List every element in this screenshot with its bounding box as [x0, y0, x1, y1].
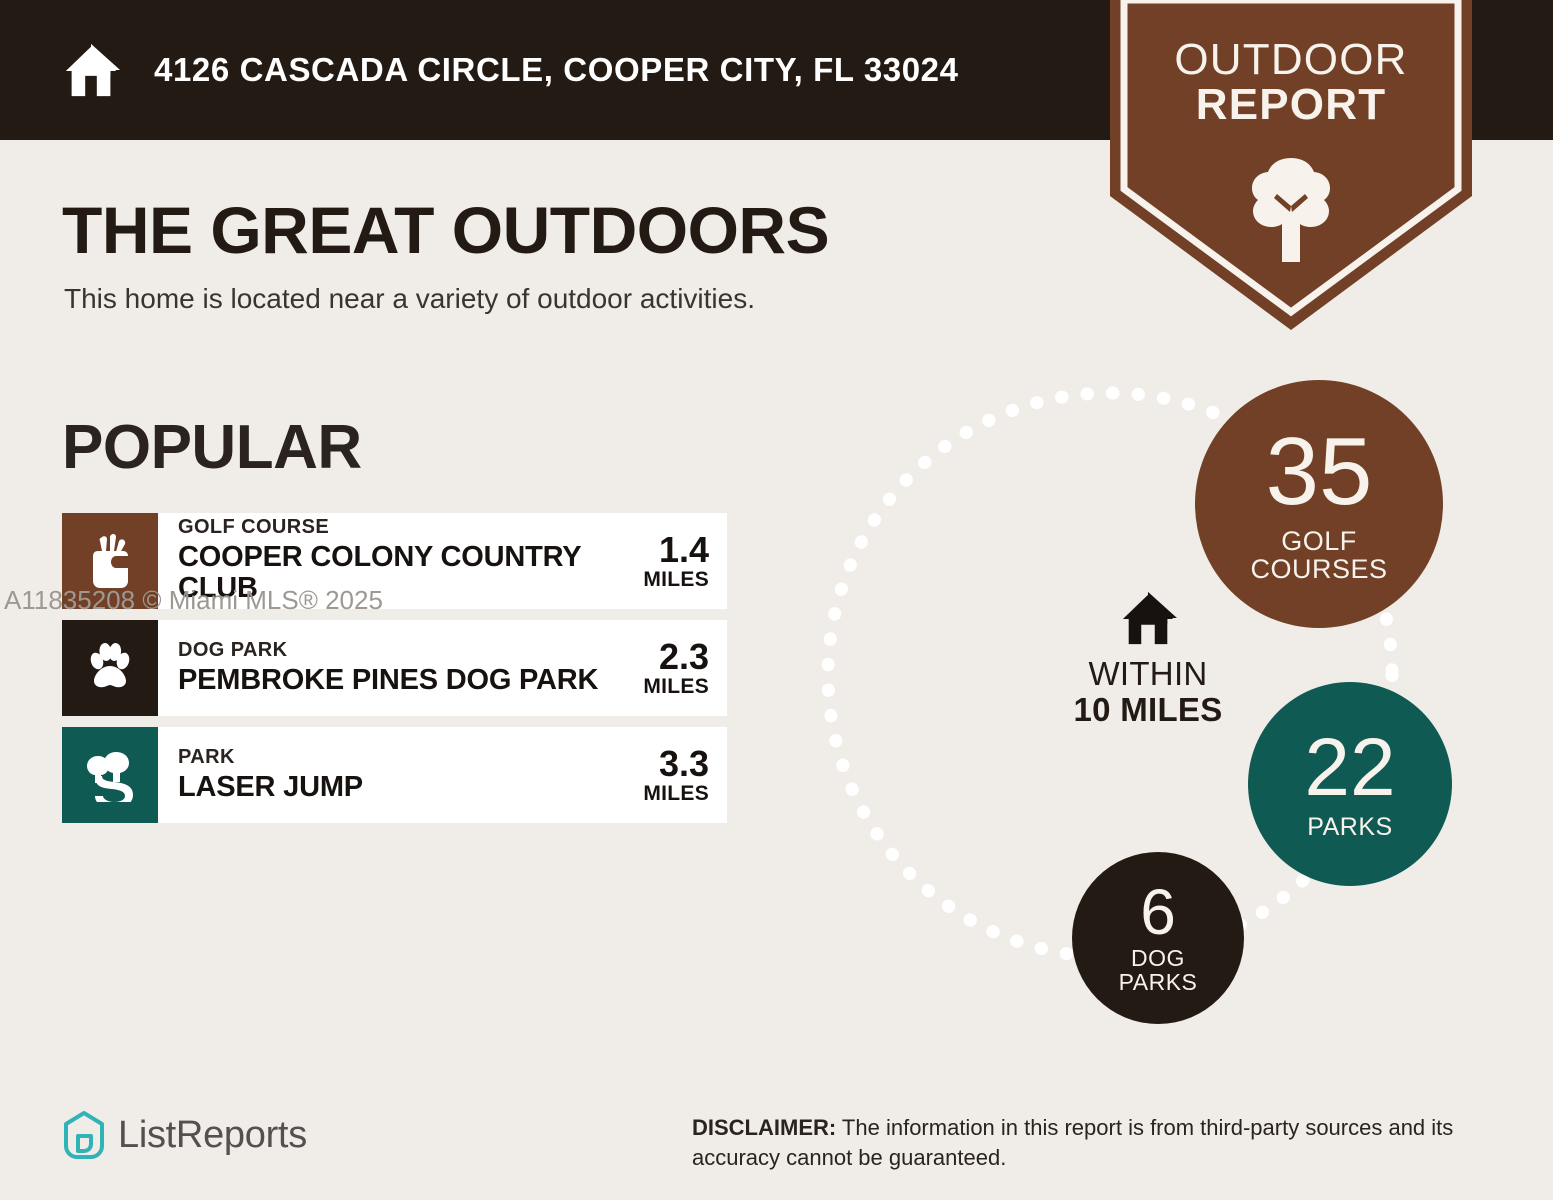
stat-value: 6: [1140, 881, 1176, 944]
stat-value: 35: [1266, 425, 1373, 519]
popular-heading: POPULAR: [62, 412, 362, 483]
list-item-category: PARK: [178, 747, 363, 769]
list-item-distance: 3.3 MILES: [633, 746, 709, 804]
mls-watermark: A11835208 © Miami MLS® 2025: [4, 585, 383, 616]
popular-list: GOLF COURSE COOPER COLONY COUNTRY CLUB 1…: [62, 513, 727, 834]
stat-bubble-golf-courses: 35 GOLF COURSES: [1195, 380, 1443, 628]
disclaimer: DISCLAIMER: The information in this repo…: [692, 1113, 1492, 1172]
home-icon: [60, 39, 122, 101]
list-item-category: GOLF COURSE: [178, 517, 633, 539]
distance-value: 3.3: [643, 746, 709, 782]
stat-label: GOLF COURSES: [1250, 527, 1387, 583]
listreports-house-icon: [62, 1110, 106, 1160]
stat-label-line1: GOLF: [1281, 526, 1357, 556]
home-icon: [1117, 590, 1179, 646]
stat-label: DOG PARKS: [1119, 947, 1198, 995]
stat-bubble-dog-parks: 6 DOG PARKS: [1072, 852, 1244, 1024]
distance-value: 1.4: [643, 532, 709, 568]
within-line1: WITHIN: [1028, 656, 1268, 692]
distance-unit: MILES: [643, 783, 709, 804]
list-item-body: DOG PARK PEMBROKE PINES DOG PARK 2.3 MIL…: [158, 620, 727, 716]
stat-label: PARKS: [1307, 814, 1392, 840]
list-item-distance: 1.4 MILES: [633, 532, 709, 590]
paw-print-icon: [62, 620, 158, 716]
listreports-logo-text: ListReports: [118, 1114, 307, 1157]
page-subtitle: This home is located near a variety of o…: [64, 283, 755, 315]
distance-value: 2.3: [643, 639, 709, 675]
diagram-center-label: WITHIN 10 MILES: [1028, 590, 1268, 727]
list-item[interactable]: PARK LASER JUMP 3.3 MILES: [62, 727, 727, 823]
property-address: 4126 CASCADA CIRCLE, COOPER CITY, FL 330…: [154, 51, 959, 89]
stat-value: 22: [1304, 728, 1395, 808]
stat-label-line2: PARKS: [1119, 969, 1198, 995]
list-item-body: PARK LASER JUMP 3.3 MILES: [158, 727, 727, 823]
stat-label-line1: DOG: [1131, 945, 1185, 971]
outdoor-report-badge: OUTDOOR REPORT: [1110, 0, 1472, 330]
stat-bubble-parks: 22 PARKS: [1248, 682, 1452, 886]
distance-unit: MILES: [643, 676, 709, 697]
page-title: THE GREAT OUTDOORS: [62, 192, 829, 268]
stat-label-line2: COURSES: [1250, 554, 1387, 584]
distance-unit: MILES: [643, 569, 709, 590]
within-line2: 10 MILES: [1028, 692, 1268, 728]
list-item-labels: DOG PARK PEMBROKE PINES DOG PARK: [178, 640, 598, 696]
disclaimer-label: DISCLAIMER:: [692, 1115, 836, 1140]
within-10-miles-diagram: WITHIN 10 MILES 35 GOLF COURSES 22 PARKS…: [800, 350, 1500, 1030]
badge-shield-shape: [1110, 0, 1472, 330]
list-item-category: DOG PARK: [178, 640, 598, 662]
list-item-name: PEMBROKE PINES DOG PARK: [178, 665, 598, 696]
list-item-labels: PARK LASER JUMP: [178, 747, 363, 803]
list-item[interactable]: DOG PARK PEMBROKE PINES DOG PARK 2.3 MIL…: [62, 620, 727, 716]
listreports-logo[interactable]: ListReports: [62, 1110, 307, 1160]
park-trees-icon: [62, 727, 158, 823]
list-item-name: LASER JUMP: [178, 772, 363, 803]
list-item-distance: 2.3 MILES: [633, 639, 709, 697]
